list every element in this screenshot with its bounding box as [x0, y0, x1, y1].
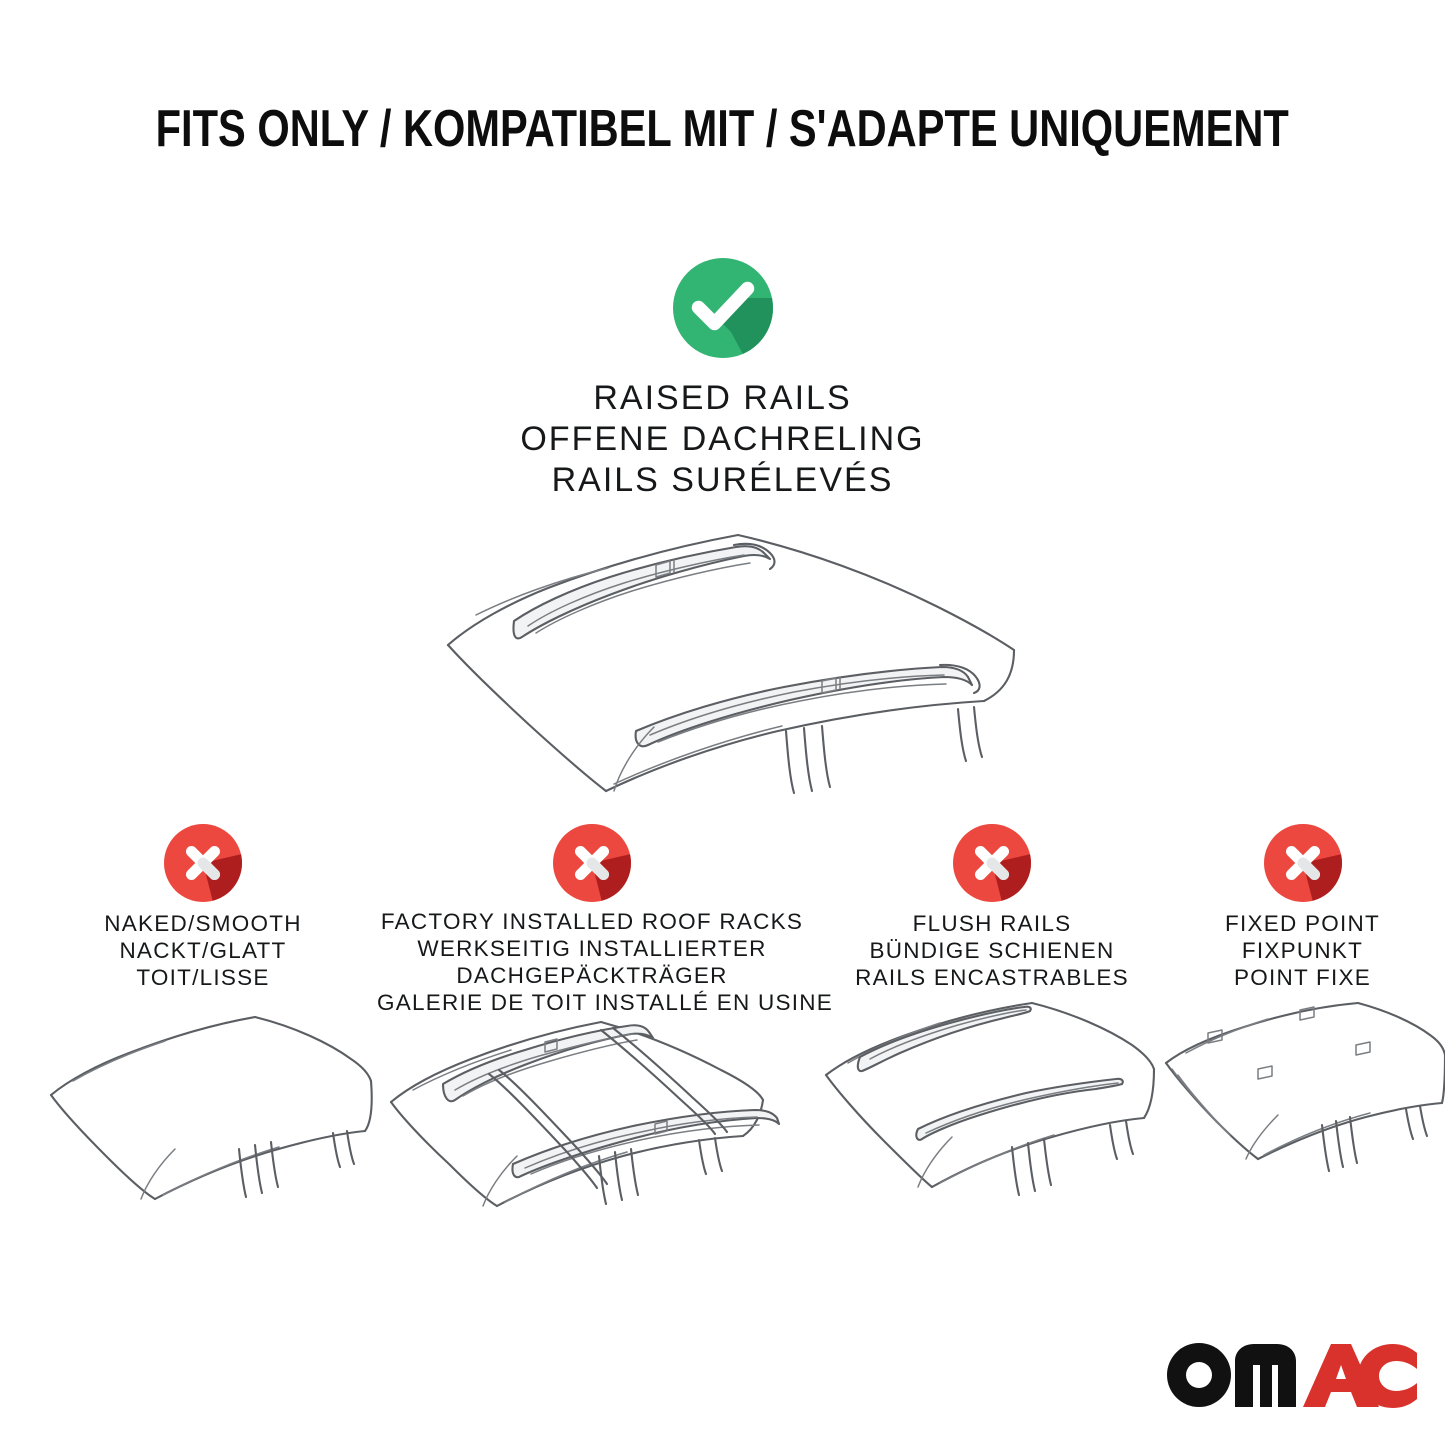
option-label-fr: POINT FIXE [1160, 964, 1445, 991]
check-circle-icon [673, 258, 773, 358]
option-label-de: FIXPUNKT [1160, 937, 1445, 964]
check-mark-icon [673, 258, 773, 358]
option-label: NAKED/SMOOTH NACKT/GLATT TOIT/LISSE [33, 910, 373, 991]
incompatible-option-fixed-point: FIXED POINT FIXPUNKT POINT FIXE [1160, 824, 1445, 1212]
option-label-de: BÜNDIGE SCHIENEN [810, 937, 1174, 964]
option-label-en: FIXED POINT [1160, 910, 1445, 937]
incompatible-option-factory-racks: FACTORY INSTALLED ROOF RACKS WERKSEITIG … [377, 824, 807, 1244]
option-label-de-2: DACHGEPÄCKTRÄGER [377, 962, 807, 989]
cross-icon-wrap [377, 824, 807, 910]
compatible-section: RAISED RAILS OFFENE DACHRELING RAILS SUR… [0, 258, 1445, 501]
option-label-en: FACTORY INSTALLED ROOF RACKS [377, 908, 807, 935]
cross-icon-wrap [1160, 824, 1445, 910]
option-label-fr: TOIT/LISSE [33, 964, 373, 991]
option-label-de: NACKT/GLATT [33, 937, 373, 964]
car-roof-naked-smooth-illustration [33, 997, 373, 1212]
option-label-de-1: WERKSEITIG INSTALLIERTER [377, 935, 807, 962]
omac-logo [1165, 1339, 1417, 1425]
option-label: FACTORY INSTALLED ROOF RACKS WERKSEITIG … [377, 908, 807, 1016]
cross-circle-icon [1264, 824, 1342, 902]
cross-mark-icon [553, 824, 631, 902]
option-label-fr: RAILS ENCASTRABLES [810, 964, 1174, 991]
option-label-en: FLUSH RAILS [810, 910, 1174, 937]
page-title-text: FITS ONLY / KOMPATIBEL MIT / S'ADAPTE UN… [156, 98, 1289, 160]
incompatible-option-naked-smooth: NAKED/SMOOTH NACKT/GLATT TOIT/LISSE [33, 824, 373, 1212]
car-roof-fixed-point-illustration [1160, 997, 1445, 1212]
cross-icon-wrap [33, 824, 373, 910]
car-roof-raised-rails-illustration [418, 495, 1028, 795]
car-roof-factory-racks-illustration [377, 1012, 807, 1244]
car-roof-flush-rails-illustration [810, 997, 1174, 1212]
cross-mark-icon [164, 824, 242, 902]
page-title: FITS ONLY / KOMPATIBEL MIT / S'ADAPTE UN… [0, 98, 1445, 160]
omac-logo-mark [1165, 1339, 1417, 1425]
cross-mark-icon [1264, 824, 1342, 902]
incompatible-option-flush-rails: FLUSH RAILS BÜNDIGE SCHIENEN RAILS ENCAS… [810, 824, 1174, 1212]
cross-mark-icon [953, 824, 1031, 902]
compatible-label-en: RAISED RAILS [0, 378, 1445, 419]
cross-icon-wrap [810, 824, 1174, 910]
option-label-en: NAKED/SMOOTH [33, 910, 373, 937]
cross-circle-icon [164, 824, 242, 902]
cross-circle-icon [553, 824, 631, 902]
cross-circle-icon [953, 824, 1031, 902]
compatible-label-de: OFFENE DACHRELING [0, 419, 1445, 460]
compatible-label: RAISED RAILS OFFENE DACHRELING RAILS SUR… [0, 378, 1445, 501]
option-label: FIXED POINT FIXPUNKT POINT FIXE [1160, 910, 1445, 991]
option-label: FLUSH RAILS BÜNDIGE SCHIENEN RAILS ENCAS… [810, 910, 1174, 991]
